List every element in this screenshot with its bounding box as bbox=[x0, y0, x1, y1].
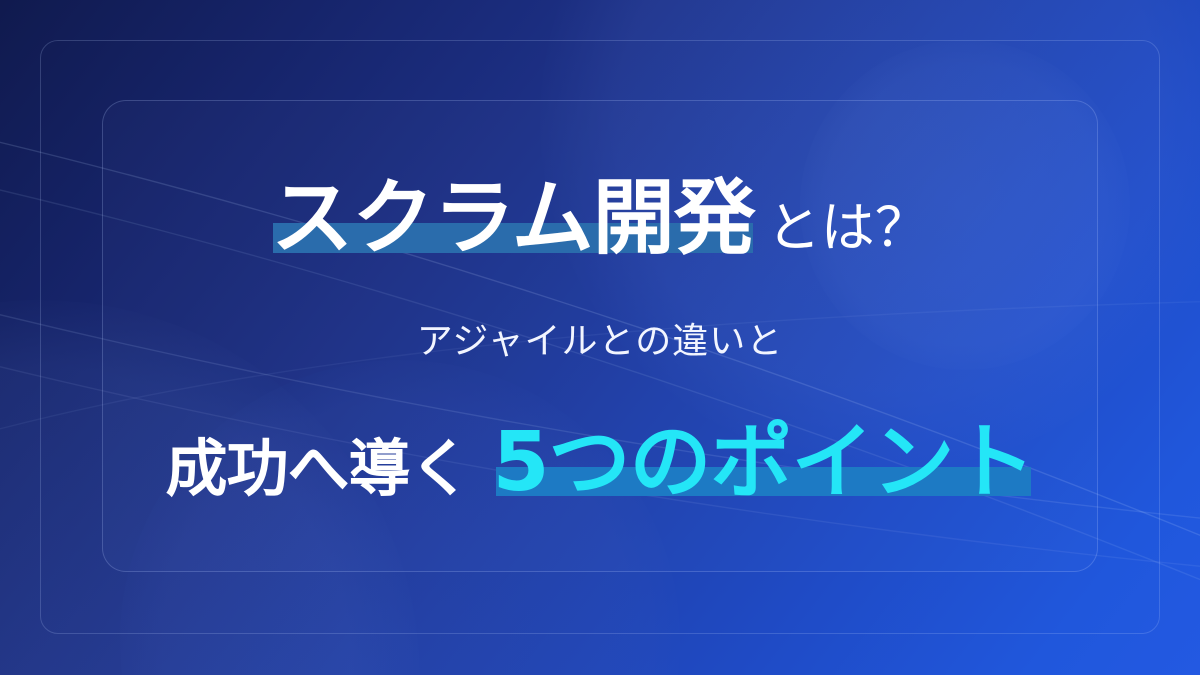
headline-lead-text: 成功へ導く bbox=[165, 418, 470, 508]
slide-canvas: スクラム開発 とは？ アジャイルとの違いと 成功へ導く 5つのポイント bbox=[0, 0, 1200, 675]
title-main-wrapper: スクラム開発 bbox=[271, 178, 755, 260]
page-title: スクラム開発 bbox=[271, 171, 755, 266]
slide-content: スクラム開発 とは？ アジャイルとの違いと 成功へ導く 5つのポイント bbox=[0, 0, 1200, 675]
headline-row: 成功へ導く 5つのポイント bbox=[0, 418, 1200, 508]
title-row: スクラム開発 とは？ bbox=[0, 178, 1200, 262]
title-suffix: とは？ bbox=[767, 183, 929, 262]
subtitle: アジャイルとの違いと bbox=[0, 312, 1200, 364]
headline-accent-text: 5つのポイント bbox=[492, 415, 1034, 510]
headline-accent-wrapper: 5つのポイント bbox=[492, 422, 1034, 504]
